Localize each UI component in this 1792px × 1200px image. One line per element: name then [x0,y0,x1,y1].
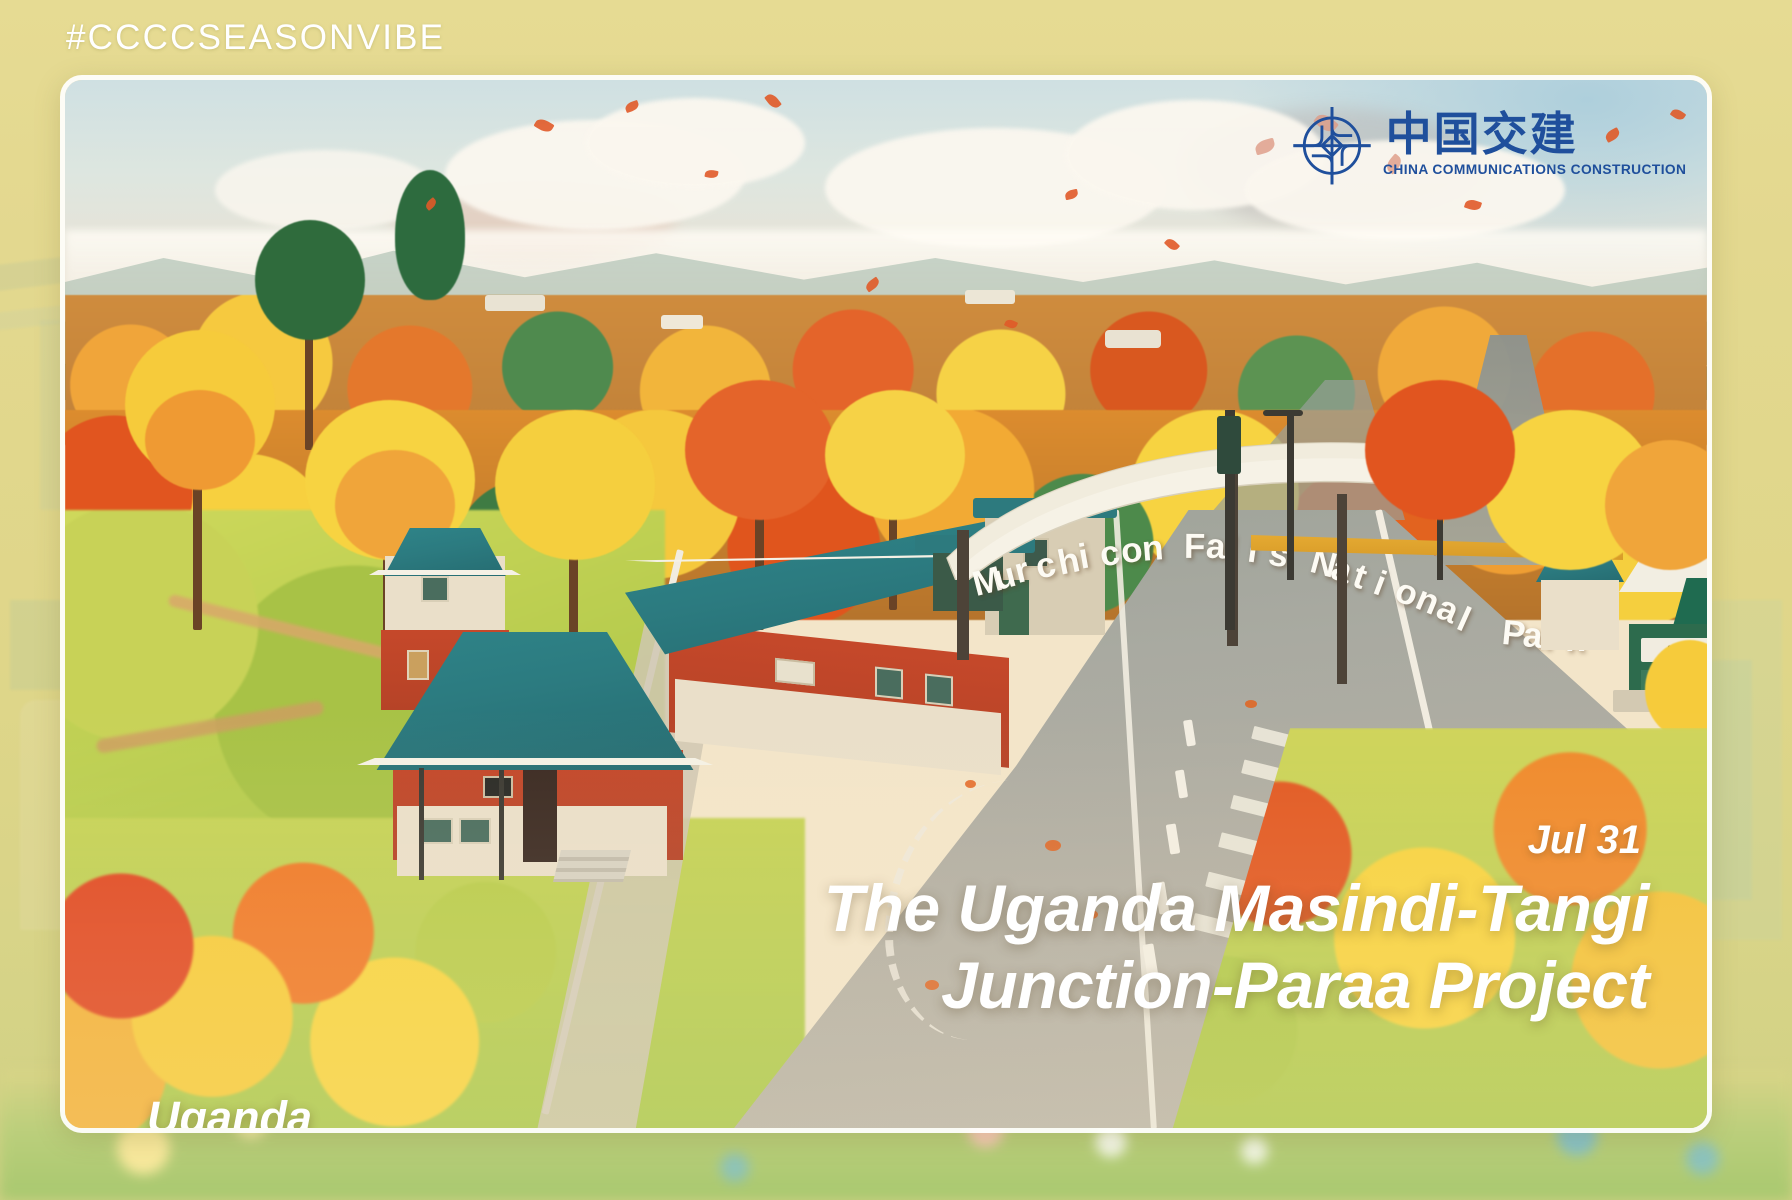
distant-house [661,315,703,329]
arch-sign-char: F [1184,527,1206,567]
traffic-sign-box [1217,416,1241,474]
distant-house [485,295,545,311]
arch-support-post [957,530,969,660]
cloud [585,98,805,188]
fallen-leaf [1245,700,1257,708]
distant-house [1105,330,1161,348]
light-pole-arm [1263,410,1303,416]
autumn-tree [1605,440,1707,640]
post-date: Jul 31 [1528,818,1641,863]
cccc-logo-english: CHINA COMMUNICATIONS CONSTRUCTION [1383,163,1686,177]
cccc-logo-chinese: 中国交建 [1386,111,1683,157]
illustration-scene: Murchicon Falls National Park ยูยูยูยู [65,80,1707,1128]
arch-sign-char [1163,527,1174,567]
distant-house [965,290,1015,304]
cccc-logo: 中国交建 CHINA COMMUNICATIONS CONSTRUCTION [1290,102,1683,186]
arch-sign-char: c [1097,533,1122,575]
arch-support-post [1337,494,1347,684]
autumn-tree [1365,380,1515,600]
project-title: The Uganda Masindi-Tangi Junction-Paraa … [824,870,1649,1023]
feature-image-card: Murchicon Falls National Park ยูยูยูยู [60,75,1712,1133]
country-label: Uganda [147,1092,312,1128]
light-pole [1287,410,1294,580]
pine-tree [395,170,465,300]
arch-sign-char: a [1205,527,1227,568]
cccc-logo-mark [1290,102,1374,186]
campaign-hashtag: #CCCCSEASONVIBE [66,18,445,58]
project-title-line-2: Junction-Paraa Project [824,947,1649,1024]
background-bridge-pier [40,320,62,510]
arch-sign-char: n [1141,528,1165,570]
project-title-line-1: The Uganda Masindi-Tangi [824,870,1649,947]
cccc-logo-text: 中国交建 CHINA COMMUNICATIONS CONSTRUCTION [1386,111,1683,177]
autumn-tree [125,330,275,630]
